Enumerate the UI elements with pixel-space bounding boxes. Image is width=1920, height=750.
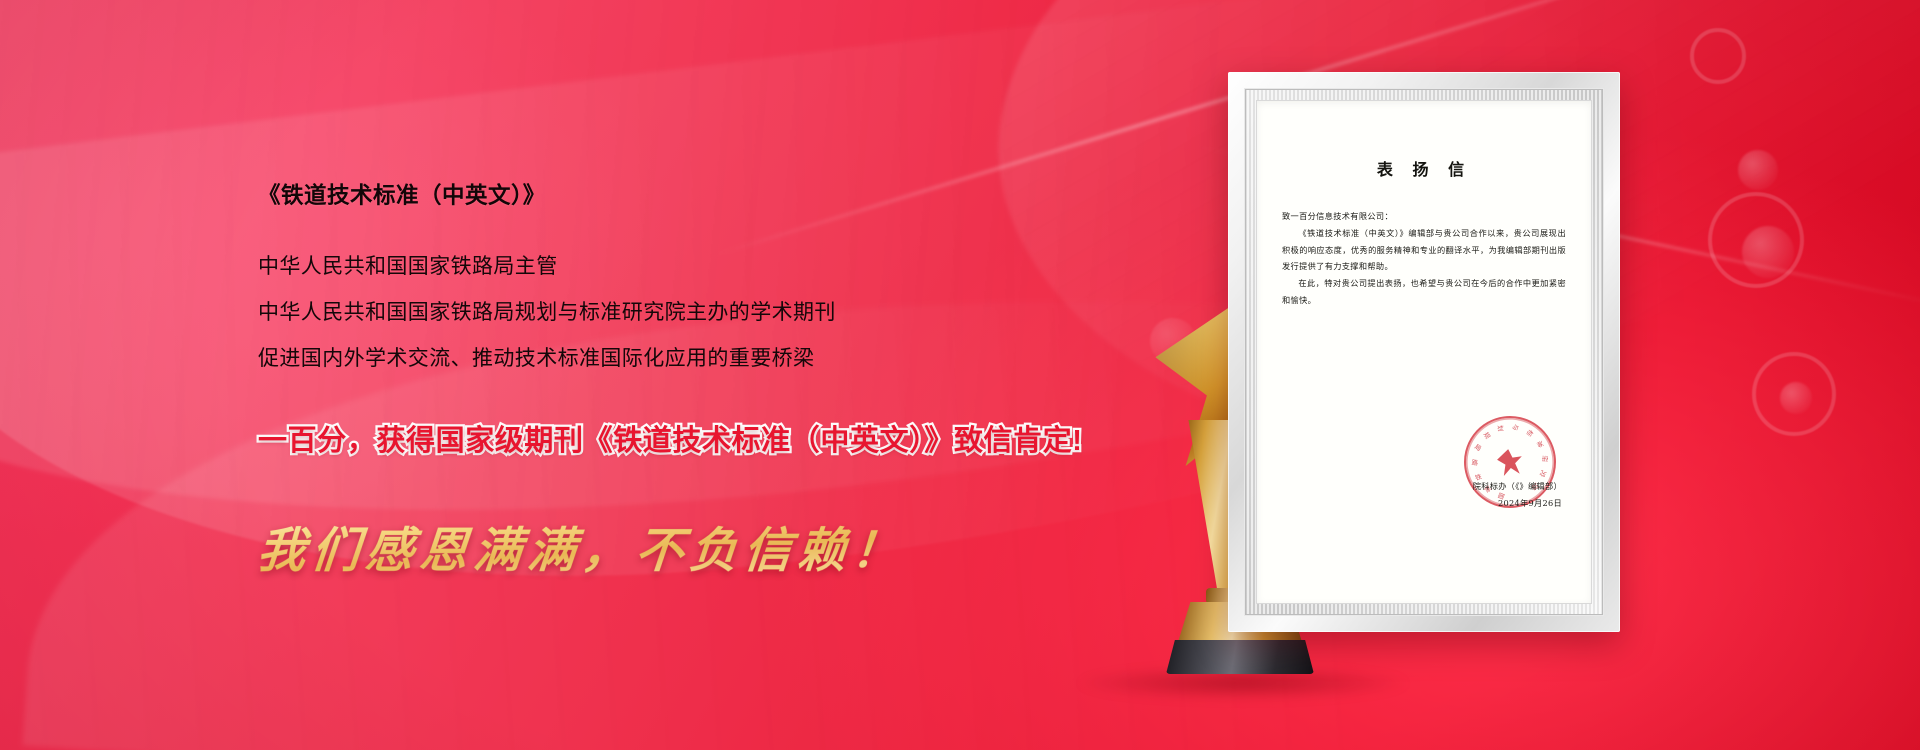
trophy-base-dark xyxy=(1166,640,1314,674)
award-headline: 一百分，获得国家级期刊《铁道技术标准（中英文）》致信肯定! xyxy=(258,417,1188,459)
seal-char: 路 xyxy=(1471,457,1479,467)
seal-char: 准 xyxy=(1535,439,1545,450)
certificate-salutation: 致一百分信息技术有限公司： xyxy=(1282,208,1566,225)
seal-char: 标 xyxy=(1524,428,1536,440)
certificate-paper: 表 扬 信 致一百分信息技术有限公司： 《铁道技术标准（中英文）》编辑部与贵公司… xyxy=(1256,100,1592,604)
certificate-frame: 表 扬 信 致一百分信息技术有限公司： 《铁道技术标准（中英文）》编辑部与贵公司… xyxy=(1228,72,1620,632)
certificate-paragraph-2: 在此，特对贵公司提出表扬，也希望与贵公司在今后的合作中更加紧密和愉快。 xyxy=(1282,275,1566,309)
seal-char: 研 xyxy=(1541,454,1549,463)
description-line-3: 促进国内外学术交流、推动技术标准国际化应用的重要桥梁 xyxy=(258,348,1188,369)
certificate-signature: 院科标办（《》编辑部） 2024年9月26日 xyxy=(1473,478,1562,512)
certificate-signature-date: 2024年9月26日 xyxy=(1473,495,1562,512)
certificate-title: 表 扬 信 xyxy=(1282,156,1566,180)
certificate-frame-bevel: 表 扬 信 致一百分信息技术有限公司： 《铁道技术标准（中英文）》编辑部与贵公司… xyxy=(1245,89,1603,615)
certificate-body: 致一百分信息技术有限公司： 《铁道技术标准（中英文）》编辑部与贵公司合作以来，贵… xyxy=(1282,208,1566,309)
certificate-paragraph-1: 《铁道技术标准（中英文）》编辑部与贵公司合作以来，贵公司展现出积极的响应态度，优… xyxy=(1282,225,1566,275)
banner-background: 《铁道技术标准（中英文）》 中华人民共和国国家铁路局主管 中华人民共和国国家铁路… xyxy=(0,0,1920,750)
seal-char: 局 xyxy=(1473,442,1484,454)
gratitude-calligraphy: 我们感恩满满，不负信赖！ xyxy=(255,511,1191,581)
journal-title: 《铁道技术标准（中英文）》 xyxy=(258,178,1188,210)
certificate-signature-org: 院科标办（《》编辑部） xyxy=(1473,478,1562,495)
description-line-1: 中华人民共和国国家铁路局主管 xyxy=(258,256,1188,277)
description-line-2: 中华人民共和国国家铁路局规划与标准研究院主办的学术期刊 xyxy=(258,302,1188,323)
seal-char: 划 xyxy=(1496,424,1506,433)
seal-char: 与 xyxy=(1510,423,1521,433)
seal-char: 规 xyxy=(1482,430,1494,441)
left-text-column: 《铁道技术标准（中英文）》 中华人民共和国国家铁路局主管 中华人民共和国国家铁路… xyxy=(258,178,1188,581)
